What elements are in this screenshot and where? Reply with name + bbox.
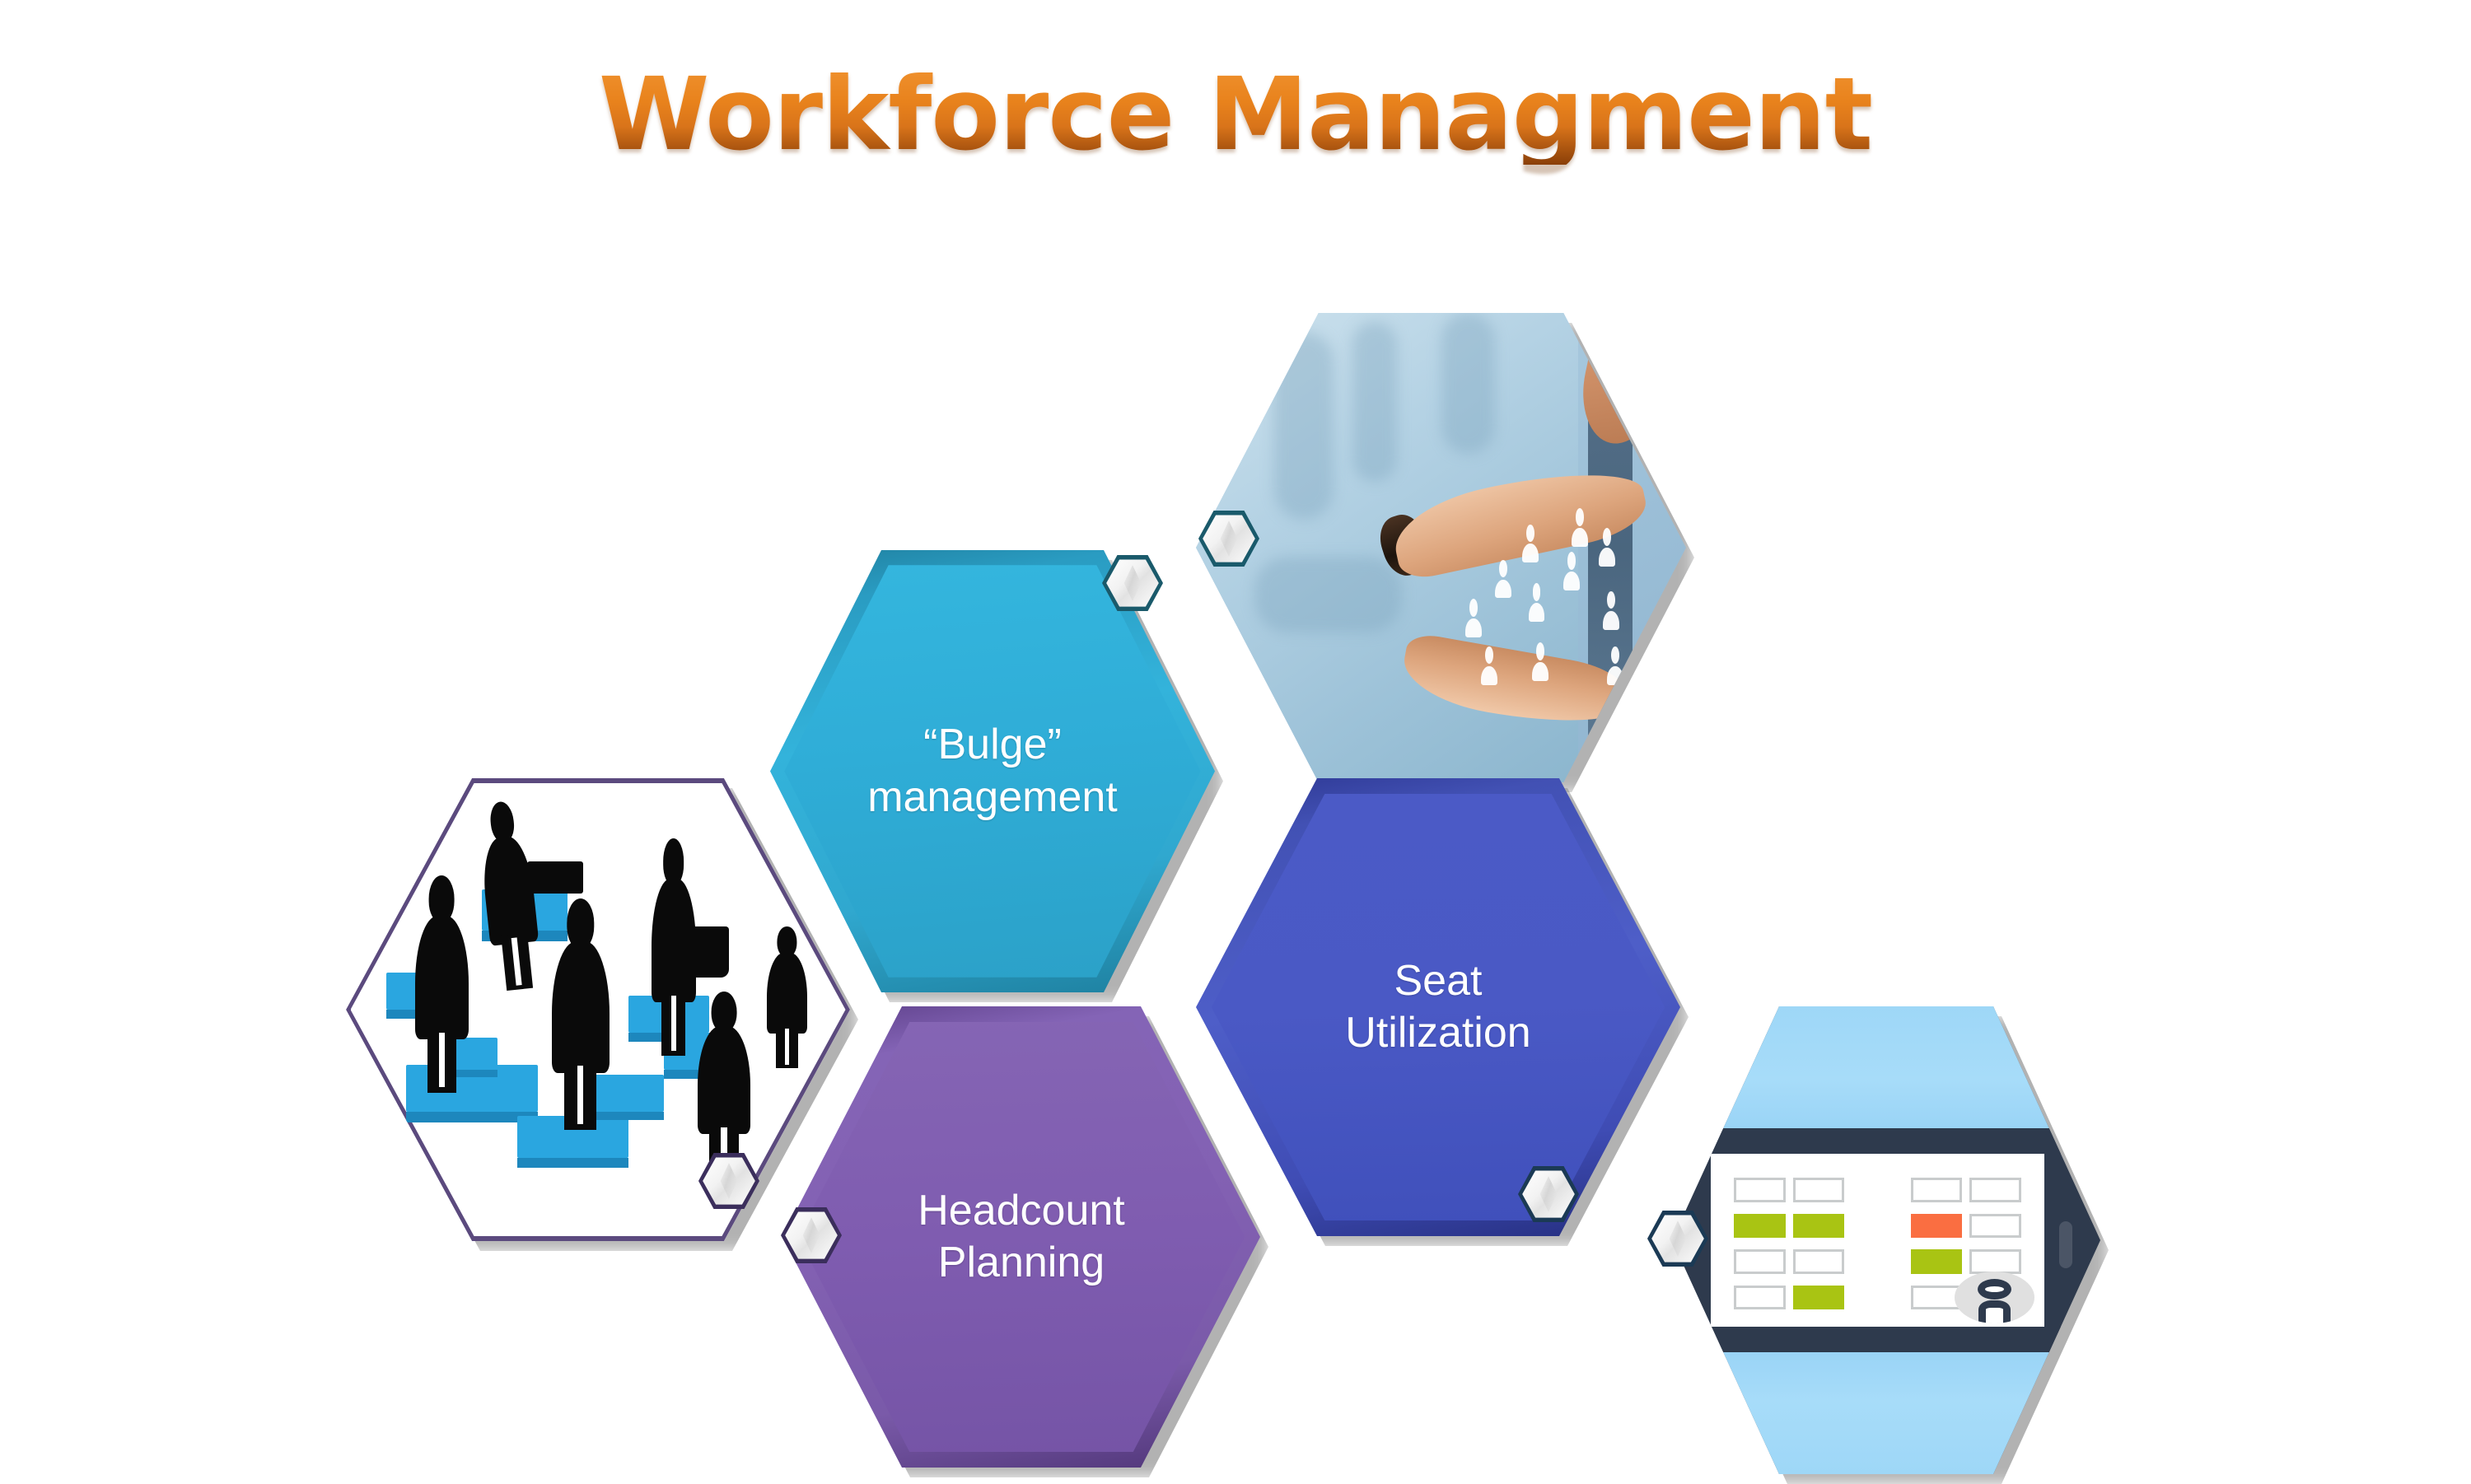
device-side-button bbox=[2059, 1221, 2073, 1268]
calendar-day-cell-green[interactable] bbox=[1793, 1286, 1845, 1309]
hexagon-bulge-label-line2: management bbox=[867, 772, 1118, 824]
person-icon bbox=[1494, 560, 1513, 600]
briefcase bbox=[527, 861, 582, 894]
shirt-fold bbox=[1352, 322, 1397, 482]
calendar-grid-gap bbox=[1852, 1249, 1903, 1273]
calendar-day-cell[interactable] bbox=[1969, 1214, 2021, 1238]
people-icon-cluster bbox=[1460, 525, 1656, 721]
calendar-day-cell-green[interactable] bbox=[1734, 1214, 1786, 1238]
shirt-fold bbox=[1441, 313, 1495, 454]
calendar-day-cell[interactable] bbox=[1911, 1178, 1963, 1202]
person-icon bbox=[1521, 525, 1540, 564]
calendar-grid-gap bbox=[1852, 1214, 1903, 1238]
calendar-bottom-band bbox=[1672, 1352, 2100, 1474]
person-silhouette bbox=[694, 992, 754, 1177]
person-icon bbox=[1571, 508, 1590, 548]
calendar-grid-gap bbox=[1852, 1178, 1903, 1202]
person-silhouette bbox=[473, 799, 547, 989]
person-icon bbox=[1562, 552, 1581, 591]
calendar-day-cell-green[interactable] bbox=[1793, 1214, 1845, 1238]
calendar-day-cell[interactable] bbox=[1969, 1249, 2021, 1273]
person-icon bbox=[1480, 646, 1499, 686]
person-silhouette bbox=[548, 898, 614, 1125]
hexagon-headcount-label-line1: Headcount bbox=[918, 1185, 1125, 1237]
calendar-day-cell-green[interactable] bbox=[1911, 1249, 1963, 1273]
page-title: Workforce Managment bbox=[0, 64, 2471, 165]
hexagon-headcount-label-line2: Planning bbox=[918, 1237, 1125, 1289]
avatar-icon bbox=[1955, 1272, 2034, 1323]
calendar-day-cell[interactable] bbox=[1734, 1178, 1786, 1202]
calendar-top-band bbox=[1672, 1006, 2100, 1128]
hexagon-seat-label-line1: Seat bbox=[1345, 955, 1530, 1007]
person-icon bbox=[1602, 591, 1621, 631]
handbag bbox=[689, 926, 729, 978]
hexagon-seat-label: Seat Utilization bbox=[1287, 955, 1590, 1060]
person-icon bbox=[1598, 528, 1617, 567]
person-silhouette bbox=[412, 875, 472, 1089]
person-silhouette bbox=[764, 926, 810, 1066]
hexagon-headcount-label: Headcount Planning bbox=[861, 1185, 1183, 1290]
shirt-fold bbox=[1254, 557, 1402, 632]
calendar-bottom-bar bbox=[1672, 1327, 2100, 1352]
calendar-face bbox=[1711, 1154, 2045, 1327]
calendar-day-cell-orange[interactable] bbox=[1911, 1214, 1963, 1238]
calendar-day-cell[interactable] bbox=[1734, 1286, 1786, 1309]
calendar-grid-gap bbox=[1852, 1286, 1903, 1309]
calendar-day-cell[interactable] bbox=[1969, 1178, 2021, 1202]
person-icon bbox=[1527, 583, 1546, 623]
hexagon-bulge-label: “Bulge” management bbox=[814, 719, 1170, 824]
shirt-fold bbox=[1274, 332, 1333, 520]
hexagon-seat-label-line2: Utilization bbox=[1345, 1007, 1530, 1059]
calendar-top-bar bbox=[1672, 1128, 2100, 1154]
person-icon bbox=[1531, 642, 1550, 682]
hexagon-bulge-label-line1: “Bulge” bbox=[867, 719, 1118, 771]
calendar-day-cell[interactable] bbox=[1734, 1249, 1786, 1273]
calendar-day-cell[interactable] bbox=[1793, 1178, 1845, 1202]
calendar-day-cell[interactable] bbox=[1793, 1249, 1845, 1273]
person-icon bbox=[1464, 599, 1483, 638]
